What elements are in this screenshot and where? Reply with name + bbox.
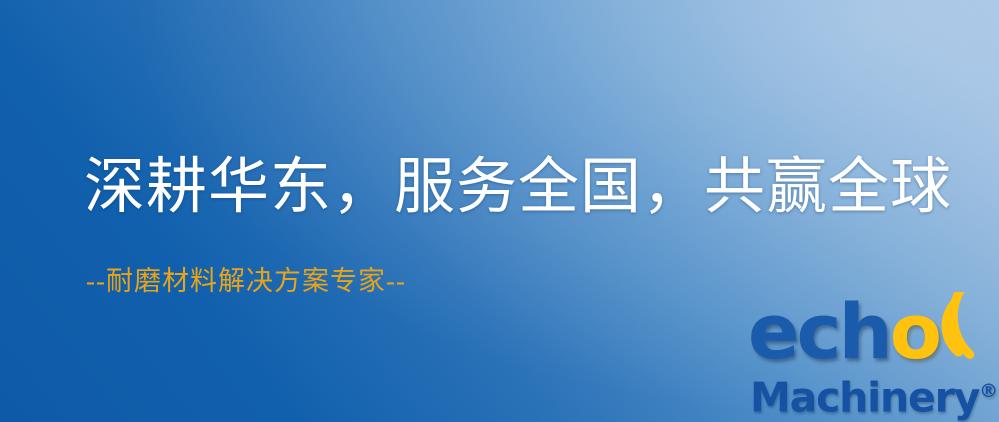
logo-wordmark: echo bbox=[748, 296, 999, 376]
logo-letter-c: c bbox=[797, 287, 839, 376]
registered-trademark-icon: ® bbox=[979, 380, 998, 402]
logo-letter-h: h bbox=[839, 287, 890, 376]
banner-headline: 深耕华东，服务全国，共赢全球 bbox=[84, 152, 952, 224]
signal-arcs-icon bbox=[929, 292, 999, 364]
logo-brand-line2: Machinery bbox=[750, 374, 979, 422]
logo-letter-e: e bbox=[748, 287, 797, 376]
banner-subtitle: --耐磨材料解决方案专家-- bbox=[86, 264, 406, 298]
hero-banner: 深耕华东，服务全国，共赢全球 --耐磨材料解决方案专家-- echo Machi… bbox=[0, 0, 999, 422]
echo-machinery-logo: echo Machinery® bbox=[748, 296, 999, 422]
logo-machinery-text: Machinery® bbox=[750, 368, 998, 421]
logo-echo-text: echo bbox=[748, 292, 939, 372]
